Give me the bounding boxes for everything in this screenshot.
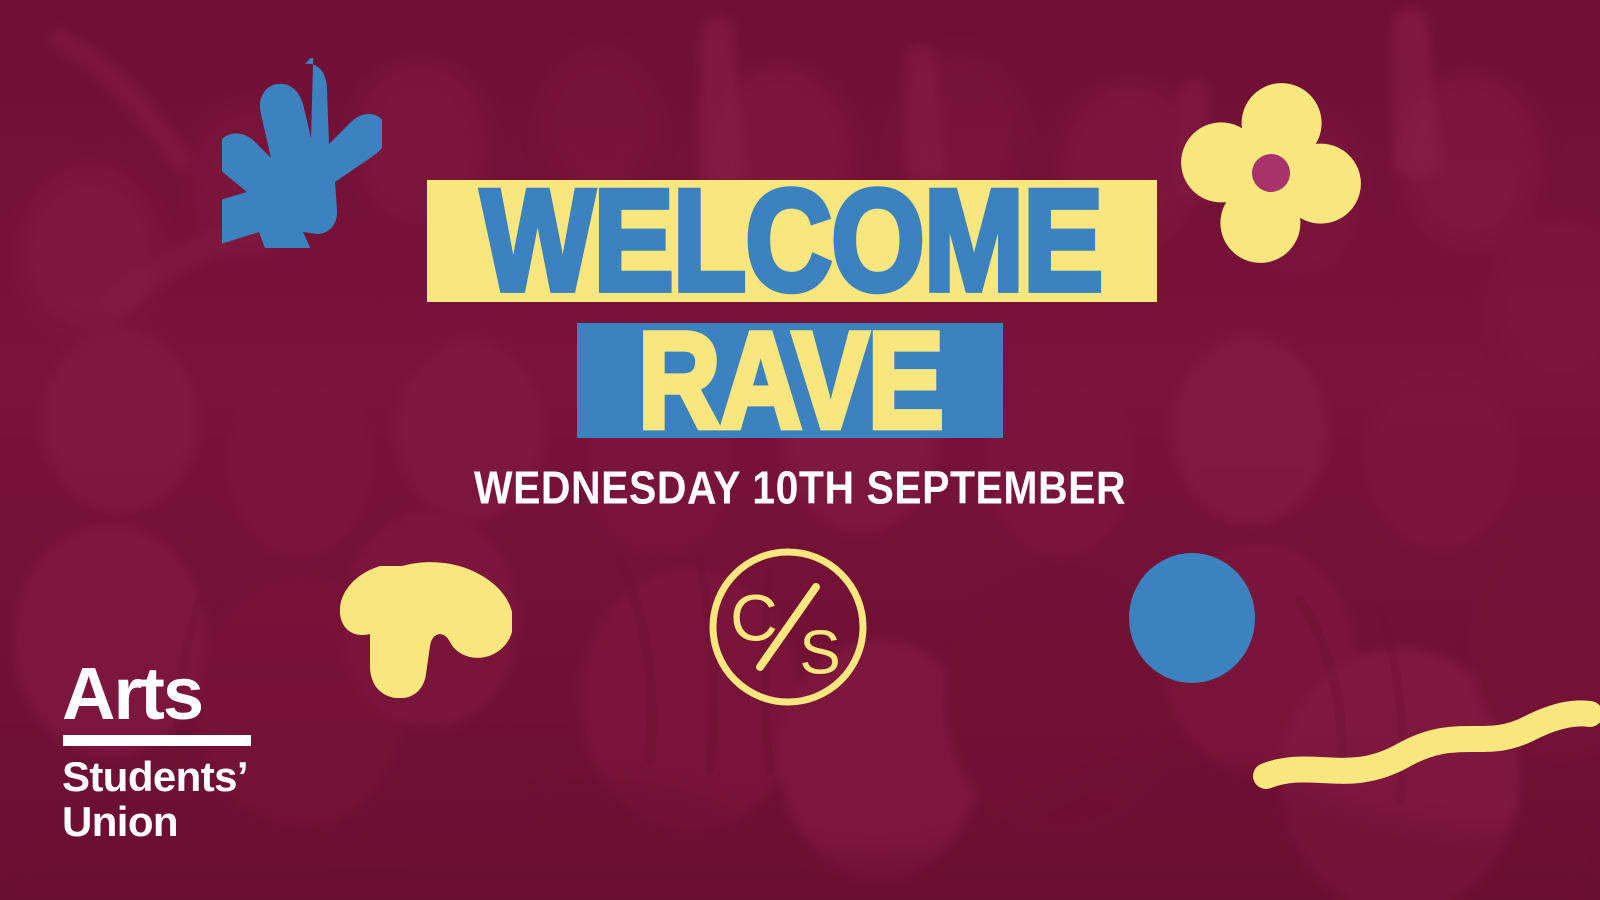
welcome-banner: WELCOME (427, 180, 1157, 302)
event-date: WEDNESDAY 10TH SEPTEMBER (0, 462, 1600, 515)
su-logo-union: Union (62, 800, 302, 845)
yellow-blob-icon (340, 560, 512, 698)
blue-circle-icon (1129, 553, 1255, 683)
cs-roundel-logo: C S (706, 545, 870, 709)
yellow-squiggle-icon (1252, 700, 1600, 800)
cs-letter-c: C (730, 580, 778, 654)
event-poster: WELCOME RAVE WEDNESDAY 10TH SEPTEMBER C … (0, 0, 1600, 900)
cs-letter-s: S (799, 618, 840, 687)
headline-rave: RAVE (638, 312, 943, 449)
su-logo-students: Students’ (62, 755, 302, 800)
yellow-flower-icon (1180, 82, 1362, 264)
blue-leaf-icon (222, 58, 382, 248)
headline-welcome: WELCOME (481, 169, 1102, 313)
su-logo-rule (63, 735, 251, 746)
rave-banner: RAVE (577, 323, 1003, 438)
su-logo-arts: Arts (62, 660, 302, 728)
arts-students-union-logo: Arts Students’ Union (62, 660, 302, 844)
